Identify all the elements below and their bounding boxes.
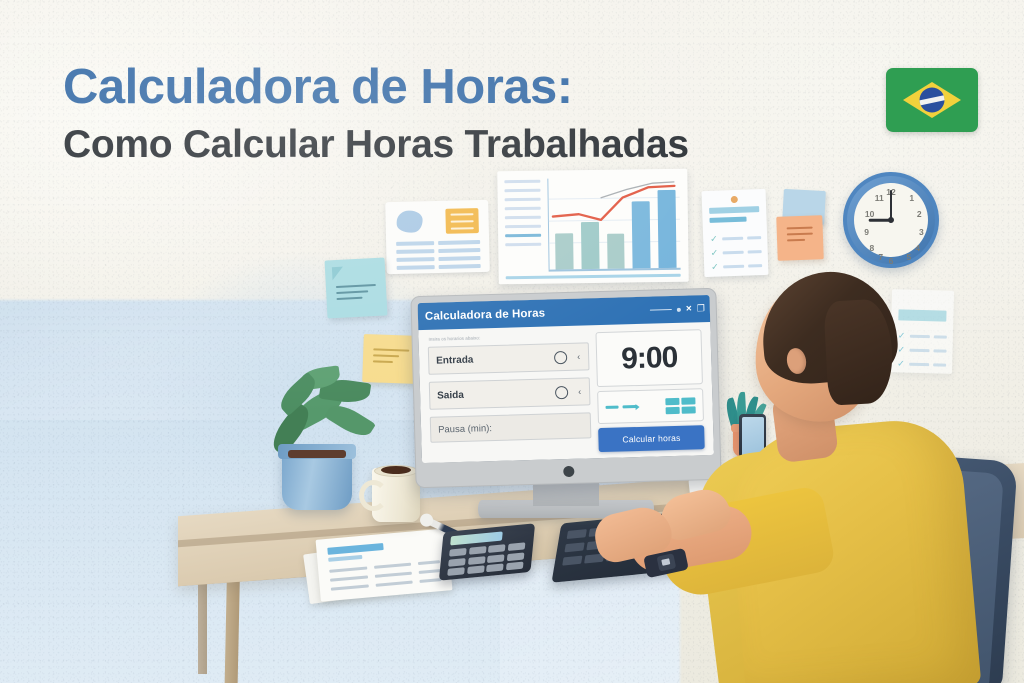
spinner-icon[interactable]: ‹ (577, 352, 580, 361)
pausa-field[interactable]: Pausa (min): (430, 412, 592, 442)
clock-center-hub (888, 217, 894, 223)
clock-numeral: 1 (906, 194, 918, 203)
saida-field[interactable]: Saida ‹ (429, 377, 591, 409)
checklist-dot-icon (731, 196, 738, 203)
clock-icon[interactable] (555, 385, 568, 398)
summary-grid-icon (665, 397, 695, 414)
page-title: Calculadora de Horas: (63, 62, 689, 114)
pot-soil (288, 450, 346, 458)
summary-panel (597, 388, 704, 424)
check-icon: ✓ (897, 345, 905, 354)
document-orange-block (445, 208, 479, 234)
calculator-keys (447, 542, 525, 576)
sticky-note-orange (776, 215, 824, 261)
paper-subbar (328, 555, 362, 562)
saida-label: Saida (437, 389, 464, 401)
app-title: Calculadora de Horas (425, 307, 546, 322)
app-hint-text: Insira os horarios abaixo: (429, 332, 589, 341)
entrada-label: Entrada (436, 354, 474, 366)
wall-chart-poster (497, 169, 689, 285)
monitor-bezel: Calculadora de Horas × ❐ Insira os horar… (418, 295, 714, 463)
clock-face: 12 1 2 3 4 5 6 7 8 9 10 11 (854, 183, 928, 257)
summary-line-icon (606, 406, 619, 409)
entrada-field[interactable]: Entrada ‹ (428, 342, 590, 374)
calculator-app-window[interactable]: Calculadora de Horas × ❐ Insira os horar… (418, 295, 714, 463)
flag-band (920, 94, 945, 106)
clock-minute-hand (890, 190, 893, 220)
sticky-fold (332, 267, 344, 281)
mug-rim (374, 465, 418, 477)
pausa-label: Pausa (min): (438, 423, 492, 435)
clock-numeral: 5 (903, 253, 915, 262)
desk-paper (316, 528, 453, 601)
wall-document-card (385, 200, 490, 274)
document-blob-icon (396, 210, 422, 233)
check-icon: ✓ (897, 359, 905, 368)
title-block: Calculadora de Horas: Como Calcular Hora… (63, 62, 689, 167)
clock-numeral: 9 (861, 228, 873, 237)
clock-numeral: 3 (915, 228, 927, 237)
clock-numeral: 6 (885, 257, 897, 266)
app-form-column: Insira os horarios abaixo: Entrada ‹ Sai… (428, 332, 592, 456)
clock-numeral: 8 (866, 244, 878, 253)
clock-icon[interactable] (554, 350, 567, 363)
checklist-subheader-bar (709, 217, 746, 223)
clock-numeral: 2 (913, 210, 925, 219)
chart-trend-line (548, 177, 679, 265)
document-text-rows (396, 240, 481, 274)
chart-footer-bar (506, 274, 681, 279)
mug-handle (359, 480, 388, 511)
window-controls[interactable]: × ❐ (650, 295, 706, 324)
check-icon: ✓ (710, 235, 718, 244)
result-value: 9:00 (621, 340, 678, 376)
computer-monitor: Calculadora de Horas × ❐ Insira os horar… (410, 288, 721, 488)
clock-numeral: 10 (864, 210, 876, 219)
clock-numeral: 11 (873, 194, 885, 203)
checklist-header-bar (709, 206, 759, 214)
maximize-icon[interactable]: ❐ (697, 304, 705, 313)
minimize-icon[interactable] (650, 309, 672, 311)
checklist-header-bar (898, 309, 946, 321)
app-result-column: 9:00 Calcular horas (595, 329, 704, 452)
check-icon: ✓ (711, 263, 719, 272)
coffee-mug (372, 468, 420, 522)
calcular-horas-button[interactable]: Calcular horas (598, 425, 705, 452)
wall-clock: 12 1 2 3 4 5 6 7 8 9 10 11 (843, 172, 939, 268)
close-icon[interactable]: × (686, 304, 692, 314)
brazil-flag-icon (886, 68, 978, 132)
desk-calculator (439, 523, 535, 580)
wall-checklist: ✓ ✓ ✓ (702, 189, 769, 277)
check-icon: ✓ (711, 249, 719, 258)
paper-highlight-bar (327, 543, 383, 555)
sticky-note-teal (325, 257, 388, 318)
result-panel: 9:00 (595, 329, 702, 387)
app-body: Insira os horarios abaixo: Entrada ‹ Sai… (418, 322, 714, 463)
spinner-icon[interactable]: ‹ (578, 387, 581, 396)
watch-face (657, 553, 677, 571)
clock-numeral: 4 (912, 244, 924, 253)
coffee-liquid (381, 466, 411, 474)
clock-numeral: 7 (875, 253, 887, 262)
chart-plot-area (547, 177, 680, 270)
page-subtitle: Como Calcular Horas Trabalhadas (63, 124, 689, 167)
summary-arrow-icon (623, 405, 638, 408)
calculator-display (450, 531, 503, 545)
check-icon: ✓ (898, 331, 906, 340)
illustration-canvas: ✓ ✓ ✓ ✓ ✓ ✓ 12 1 2 3 4 5 6 7 8 9 10 11 (0, 0, 1024, 683)
window-dot-icon[interactable] (677, 307, 681, 311)
plant-pot (282, 448, 352, 510)
chart-sidebar-rows (504, 180, 541, 252)
wall-checklist-faded: ✓ ✓ ✓ (890, 289, 954, 374)
flag-globe (920, 88, 945, 113)
